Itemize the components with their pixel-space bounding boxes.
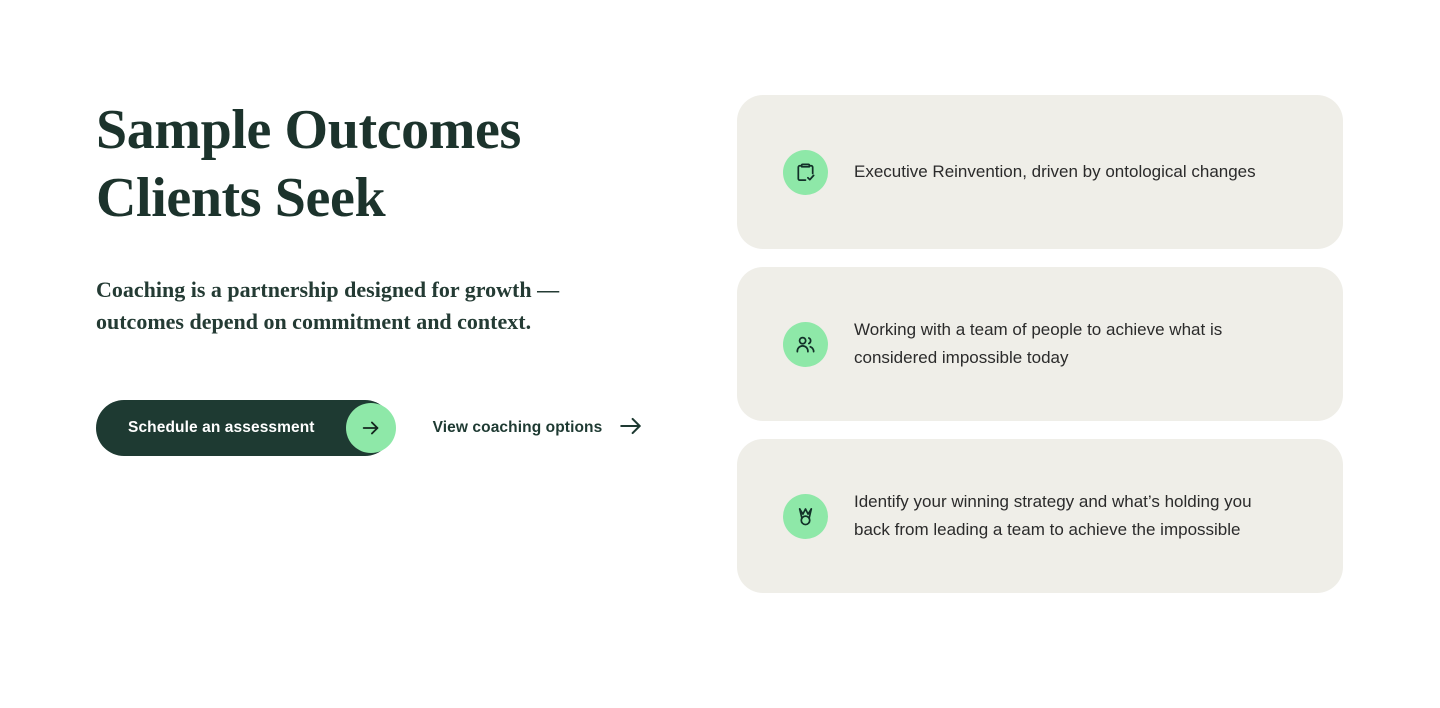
view-coaching-options-label: View coaching options [433, 419, 603, 437]
outcome-card: Executive Reinvention, driven by ontolog… [737, 95, 1343, 249]
cta-row: Schedule an assessment View coaching opt… [96, 400, 676, 456]
page-root: Sample Outcomes Clients Seek Coaching is… [0, 0, 1440, 708]
users-group-icon [783, 322, 828, 367]
clipboard-check-icon [783, 150, 828, 195]
outcome-card-text: Identify your winning strategy and what’… [854, 488, 1284, 544]
schedule-assessment-label: Schedule an assessment [128, 419, 315, 437]
outcomes-card-list: Executive Reinvention, driven by ontolog… [737, 95, 1343, 593]
view-coaching-options-button[interactable]: View coaching options [429, 405, 649, 452]
arrow-right-icon [346, 403, 396, 453]
outcome-card-text: Working with a team of people to achieve… [854, 316, 1284, 372]
outcome-card-text: Executive Reinvention, driven by ontolog… [854, 158, 1256, 186]
page-title: Sample Outcomes Clients Seek [96, 96, 676, 232]
outcome-card: Identify your winning strategy and what’… [737, 439, 1343, 593]
outcome-card: Working with a team of people to achieve… [737, 267, 1343, 421]
arrow-right-icon [618, 413, 644, 444]
medal-award-icon [783, 494, 828, 539]
schedule-assessment-button[interactable]: Schedule an assessment [96, 400, 393, 456]
hero-section: Sample Outcomes Clients Seek Coaching is… [96, 96, 676, 456]
hero-subtitle: Coaching is a partnership designed for g… [96, 274, 676, 338]
